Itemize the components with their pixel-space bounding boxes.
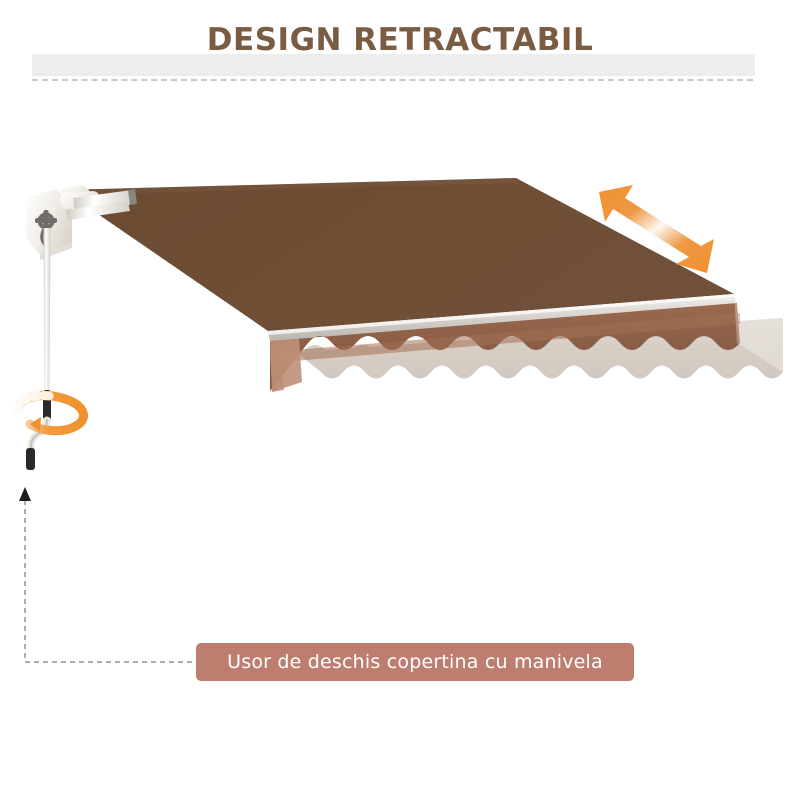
extend-retract-double-arrow — [599, 185, 714, 273]
infographic-canvas: DESIGN RETRACTABIL — [0, 0, 800, 800]
feature-caption-text: Usor de deschis copertina cu manivela — [227, 651, 603, 673]
awning-fabric-canopy — [63, 178, 734, 331]
page-title: DESIGN RETRACTABIL — [0, 22, 800, 58]
crank-rotation-swirl — [18, 396, 84, 432]
title-divider-dashed-rule — [32, 79, 753, 81]
awning-front-fascia — [270, 303, 740, 392]
awning-front-bar — [268, 294, 737, 341]
crank-gear-joint — [35, 210, 57, 245]
crank-leader-line — [19, 487, 196, 662]
feature-caption-box: Usor de deschis copertina cu manivela — [196, 643, 634, 681]
wall-mounting-bracket — [26, 185, 137, 260]
awning-valance — [296, 318, 783, 379]
awning-right-end-ghost — [734, 294, 783, 372]
crank-handle-rod — [26, 228, 51, 470]
